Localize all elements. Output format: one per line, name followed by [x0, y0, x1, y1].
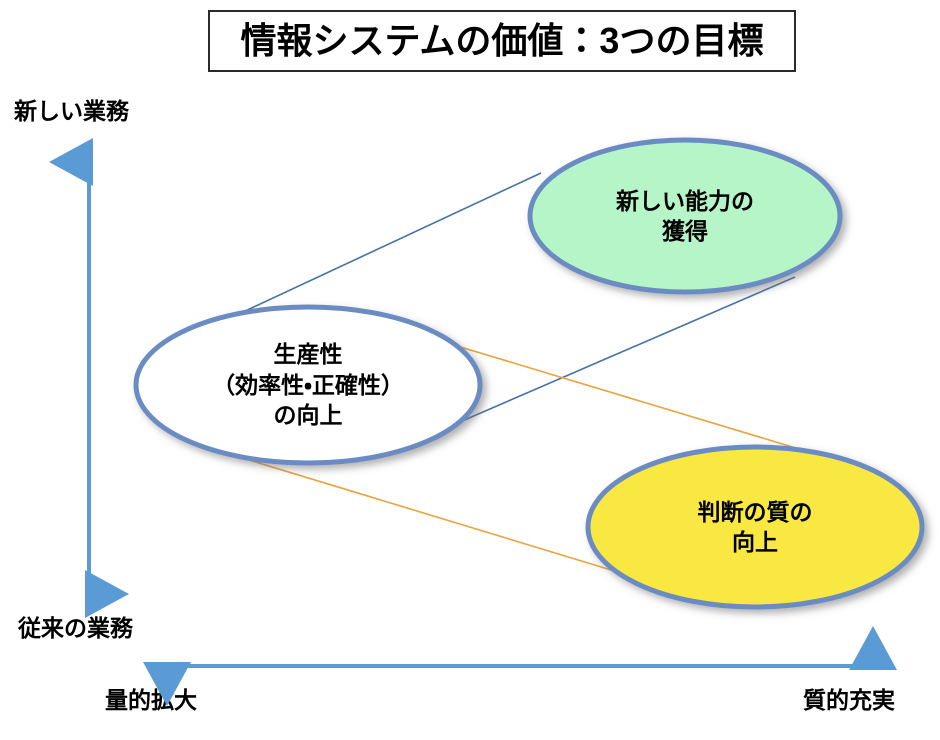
node-ellipse-productivity[interactable] — [136, 307, 480, 463]
ellipse-group — [136, 140, 922, 607]
node-ellipse-new-capability[interactable] — [530, 140, 840, 292]
diagram-svg — [0, 0, 940, 740]
connector-blue-upper — [213, 173, 541, 326]
node-ellipse-judgment-quality[interactable] — [588, 447, 922, 607]
slide-canvas: 情報システムの価値：3つの目標 新しい業務 従来の業務 量的拡大 質的充実 新し… — [0, 0, 940, 740]
